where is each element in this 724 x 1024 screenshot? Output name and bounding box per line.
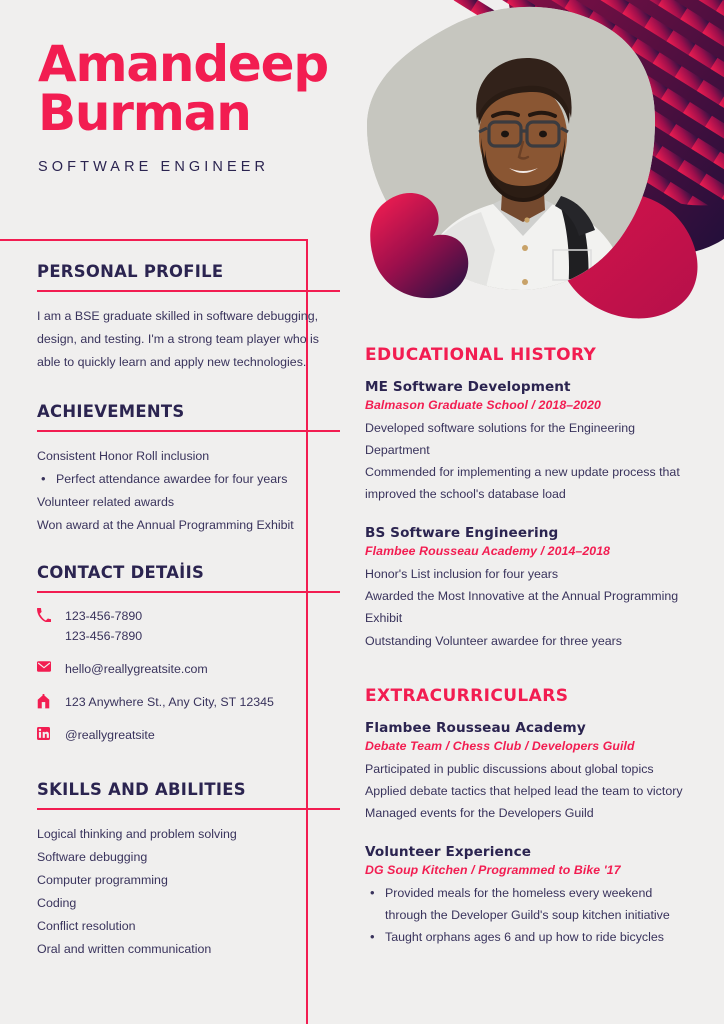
entry-meta: DG Soup Kitchen / Programmed to Bike '17 (365, 863, 695, 877)
section-heading: EXTRACURRICULARS (365, 686, 695, 706)
education-entry: ME Software Development Balmason Graduat… (365, 379, 695, 505)
entry-body: Participated in public discussions about… (365, 758, 695, 824)
header-divider-horizontal (0, 239, 308, 241)
list-item: Software debugging (37, 846, 340, 869)
volunteer-entry: Volunteer Experience DG Soup Kitchen / P… (365, 844, 695, 948)
job-role: SOFTWARE ENGINEER (38, 159, 358, 175)
list-item: Conflict resolution (37, 915, 340, 938)
section-achievements: ACHIEVEMENTS Consistent Honor Roll inclu… (37, 402, 340, 537)
profile-photo (355, 0, 685, 300)
spacer (37, 758, 340, 780)
contact-row-phone[interactable]: 123-456-7890 123-456-7890 (37, 606, 340, 646)
entry-line: Managed events for the Developers Guild (365, 802, 695, 824)
resume-header: Amandeep Burman SOFTWARE ENGINEER (38, 40, 358, 175)
entry-title: BS Software Engineering (365, 525, 695, 541)
right-column: EDUCATIONAL HISTORY ME Software Developm… (365, 345, 695, 968)
entry-line: Taught orphans ages 6 and up how to ride… (365, 926, 695, 948)
entry-line: Developed software solutions for the Eng… (365, 417, 695, 461)
entry-body: Honor's List inclusion for four years Aw… (365, 563, 695, 651)
skills-list: Logical thinking and problem solving Sof… (37, 823, 340, 961)
list-item: Oral and written communication (37, 938, 340, 961)
phone-primary: 123-456-7890 (65, 609, 142, 623)
section-heading: ACHIEVEMENTS (37, 402, 340, 421)
extracurricular-entry: Flambee Rousseau Academy Debate Team / C… (365, 720, 695, 824)
last-name: Burman (38, 89, 358, 138)
contact-phone-values: 123-456-7890 123-456-7890 (65, 606, 142, 646)
spacer (37, 374, 340, 402)
section-skills-and-abilities: SKILLS AND ABILITIES Logical thinking an… (37, 780, 340, 961)
diagonal-stripes (443, 0, 724, 205)
section-personal-profile: PERSONAL PROFILE I am a BSE graduate ski… (37, 262, 340, 374)
spacer (37, 537, 340, 563)
list-item: Won award at the Annual Programming Exhi… (37, 514, 340, 537)
heading-underline (37, 591, 340, 593)
profile-text: I am a BSE graduate skilled in software … (37, 305, 340, 374)
entry-line: Participated in public discussions about… (365, 758, 695, 780)
section-heading: SKILLS AND ABILITIES (37, 780, 340, 799)
entry-line: Awarded the Most Innovative at the Annua… (365, 585, 695, 629)
section-extracurriculars: EXTRACURRICULARS Flambee Rousseau Academ… (365, 686, 695, 948)
entry-line: Commended for implementing a new update … (365, 461, 695, 505)
envelope-icon (37, 659, 65, 672)
section-educational-history: EDUCATIONAL HISTORY ME Software Developm… (365, 345, 695, 652)
section-contact-details: CONTACT DETAİIS 123-456-7890 123-456-789… (37, 563, 340, 745)
entry-title: Volunteer Experience (365, 844, 695, 860)
list-item: Coding (37, 892, 340, 915)
red-accent-blob (557, 192, 698, 318)
section-heading: PERSONAL PROFILE (37, 262, 340, 281)
left-column: PERSONAL PROFILE I am a BSE graduate ski… (37, 262, 340, 961)
achievements-list: Consistent Honor Roll inclusion Perfect … (37, 445, 340, 537)
resume-page: Amandeep Burman SOFTWARE ENGINEER PERSON… (0, 0, 724, 1024)
dark-gradient-blob (505, 0, 724, 255)
entry-meta: Balmason Graduate School / 2018–2020 (365, 398, 695, 412)
contact-list: 123-456-7890 123-456-7890 hello@reallygr… (37, 606, 340, 745)
heading-underline (37, 430, 340, 432)
contact-row-address[interactable]: 123 Anywhere St., Any City, ST 12345 (37, 692, 340, 712)
entry-line: Applied debate tactics that helped lead … (365, 780, 695, 802)
decorative-artwork (355, 0, 724, 330)
entry-title: Flambee Rousseau Academy (365, 720, 695, 736)
spacer (365, 672, 695, 686)
entry-line: Provided meals for the homeless every we… (365, 882, 695, 926)
list-item: Consistent Honor Roll inclusion (37, 445, 340, 468)
entry-line: Honor's List inclusion for four years (365, 563, 695, 585)
list-item: Volunteer related awards (37, 491, 340, 514)
linkedin-icon (37, 725, 65, 740)
section-heading: EDUCATIONAL HISTORY (365, 345, 695, 365)
heading-underline (37, 808, 340, 810)
page-title: Amandeep Burman (38, 40, 358, 138)
phone-icon (37, 606, 65, 622)
entry-meta: Debate Team / Chess Club / Developers Gu… (365, 739, 695, 753)
entry-body: Provided meals for the homeless every we… (365, 882, 695, 948)
small-gradient-blob (370, 193, 468, 298)
entry-body: Developed software solutions for the Eng… (365, 417, 695, 505)
phone-secondary: 123-456-7890 (65, 626, 142, 646)
contact-email-value: hello@reallygreatsite.com (65, 659, 208, 679)
heading-underline (37, 290, 340, 292)
education-entry: BS Software Engineering Flambee Rousseau… (365, 525, 695, 651)
entry-line: Outstanding Volunteer awardee for three … (365, 630, 695, 652)
profile-paragraph: I am a BSE graduate skilled in software … (37, 305, 340, 374)
home-location-icon (37, 692, 65, 709)
entry-title: ME Software Development (365, 379, 695, 395)
contact-row-linkedin[interactable]: @reallygreatsite (37, 725, 340, 745)
section-heading: CONTACT DETAİIS (37, 563, 340, 582)
entry-meta: Flambee Rousseau Academy / 2014–2018 (365, 544, 695, 558)
contact-row-email[interactable]: hello@reallygreatsite.com (37, 659, 340, 679)
list-item: Computer programming (37, 869, 340, 892)
list-item: Perfect attendance awardee for four year… (37, 468, 340, 491)
contact-address-value: 123 Anywhere St., Any City, ST 12345 (65, 692, 274, 712)
contact-linkedin-value: @reallygreatsite (65, 725, 155, 745)
list-item: Logical thinking and problem solving (37, 823, 340, 846)
